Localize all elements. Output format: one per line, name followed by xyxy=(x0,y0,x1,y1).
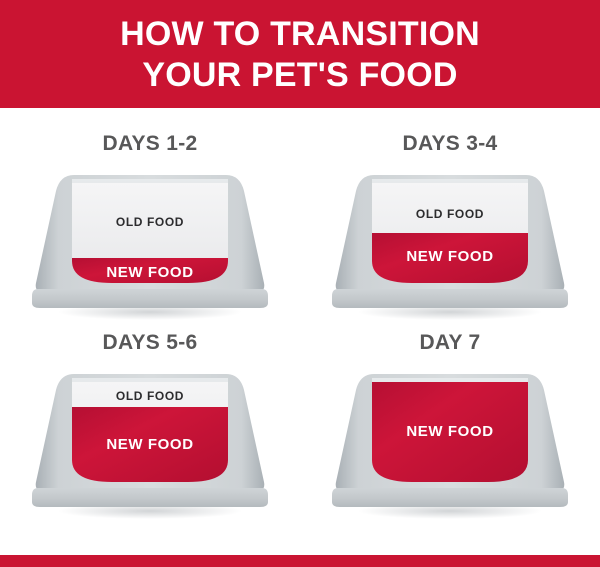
food-bowl-2: OLD FOOD NEW FOOD xyxy=(330,165,570,320)
bowl-contents xyxy=(72,183,228,288)
bowl-contents xyxy=(72,382,228,487)
bowl-contents xyxy=(372,183,528,288)
header-banner: HOW TO TRANSITION YOUR PET'S FOOD xyxy=(0,0,600,108)
food-bowl-graphic-4 xyxy=(330,364,570,519)
stage-label-1: DAYS 1-2 xyxy=(102,132,197,156)
food-bowl-3: OLD FOOD NEW FOOD xyxy=(30,364,270,519)
page-title-line-1: HOW TO TRANSITION xyxy=(120,14,480,55)
stage-label-2: DAYS 3-4 xyxy=(402,132,497,156)
transition-step-panel-2: DAYS 3-4 xyxy=(300,108,600,323)
bowl-base xyxy=(332,289,568,308)
transition-step-panel-4: DAY 7 xyxy=(300,323,600,538)
transition-step-panel-3: DAYS 5-6 xyxy=(0,323,300,538)
food-bowl-1: OLD FOOD NEW FOOD xyxy=(30,165,270,320)
stage-label-3: DAYS 5-6 xyxy=(102,331,197,355)
new-food-fill xyxy=(372,379,528,487)
stage-label-4: DAY 7 xyxy=(419,331,480,355)
footer-banner xyxy=(0,555,600,567)
transition-steps-grid: DAYS 1-2 xyxy=(0,108,600,555)
bowl-base xyxy=(32,289,268,308)
bowl-contents xyxy=(372,379,528,487)
bowl-base xyxy=(32,488,268,507)
food-bowl-graphic-3 xyxy=(30,364,270,519)
food-bowl-4: NEW FOOD xyxy=(330,364,570,519)
page-title-line-2: YOUR PET'S FOOD xyxy=(142,55,457,96)
transition-step-panel-1: DAYS 1-2 xyxy=(0,108,300,323)
bowl-base xyxy=(332,488,568,507)
food-bowl-graphic-2 xyxy=(330,165,570,320)
new-food-fill xyxy=(72,407,228,487)
food-bowl-graphic-1 xyxy=(30,165,270,320)
new-food-fill xyxy=(372,233,528,288)
